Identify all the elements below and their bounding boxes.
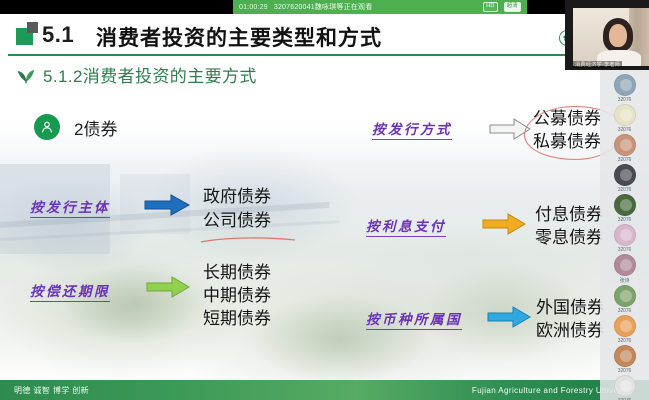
list-item[interactable]: 32076: [600, 345, 649, 374]
list-item[interactable]: 张诗: [600, 254, 649, 284]
white-arrow: [489, 118, 531, 140]
criterion-label-currency-country: 按币种所属国: [366, 308, 462, 330]
presentation-slide: 5.1 消费者投资的主要类型和方式 ✿ 福 5.1.2消费者投资的主要方式: [0, 14, 649, 400]
avatar[interactable]: [614, 224, 636, 246]
list-item[interactable]: 32076: [600, 164, 649, 193]
live-status-bar: 01:00:29 3207620041魏咏琪等正在观看 HD 超清: [233, 0, 527, 14]
topic-label: 2债券: [74, 115, 117, 140]
list-item[interactable]: 32076: [600, 375, 649, 400]
person-icon: [34, 114, 60, 140]
outcome-public-bond: 公募债券: [533, 108, 601, 130]
live-viewers-text: 3207620041魏咏琪等正在观看: [274, 2, 373, 12]
avatar[interactable]: [614, 345, 636, 367]
teacher-video-pip[interactable]: 消费经济学·李老师: [565, 0, 649, 70]
avatar[interactable]: [614, 285, 636, 307]
criterion-label-issuer: 按发行主体: [30, 196, 110, 218]
participant-name: 32076: [618, 217, 631, 223]
avatar[interactable]: [614, 375, 636, 397]
participant-name: 32076: [618, 127, 631, 133]
participant-name: 32076: [618, 338, 631, 344]
list-item[interactable]: 32076: [600, 74, 649, 103]
orange-arrow: [482, 213, 526, 235]
avatar[interactable]: [614, 134, 636, 156]
outcome-foreign-bond: 外国债券: [536, 297, 604, 319]
avatar[interactable]: [614, 74, 636, 96]
teacher-video-frame: [573, 8, 649, 66]
avatar[interactable]: [614, 254, 636, 276]
quality-badge[interactable]: 超清: [504, 2, 521, 13]
participant-name: 32076: [618, 157, 631, 163]
outcome-private-bond: 私募债券: [533, 131, 601, 153]
participant-name: 32076: [618, 308, 631, 314]
avatar[interactable]: [614, 194, 636, 216]
participant-name: 32076: [618, 97, 631, 103]
teacher-face: [609, 24, 627, 47]
outcome-short-term-bond: 短期债券: [203, 308, 271, 330]
list-item[interactable]: 32076: [600, 224, 649, 253]
outcome-long-term-bond: 长期债券: [203, 262, 271, 284]
avatar[interactable]: [614, 104, 636, 126]
live-elapsed-time: 01:00:29: [239, 4, 268, 11]
slide-footer: 明德 诚智 博学 创新 Fujian Agriculture and Fores…: [0, 380, 649, 400]
outcome-government-bond: 政府债券: [203, 186, 271, 208]
hd-badge[interactable]: HD: [483, 2, 497, 13]
criterion-label-maturity: 按偿还期限: [30, 280, 110, 302]
list-item[interactable]: 32076: [600, 285, 649, 314]
participant-name: 32076: [618, 368, 631, 374]
footer-motto: 明德 诚智 博学 创新: [14, 385, 89, 396]
list-item[interactable]: 32076: [600, 315, 649, 344]
participant-name: 32076: [618, 247, 631, 253]
avatar[interactable]: [614, 164, 636, 186]
avatar[interactable]: [614, 315, 636, 337]
participant-name: 张诗: [620, 277, 630, 284]
outcome-coupon-bond: 付息债券: [535, 204, 603, 226]
outcome-mid-term-bond: 中期债券: [203, 285, 271, 307]
outcome-zero-coupon-bond: 零息债券: [535, 227, 603, 249]
outcome-euro-bond: 欧洲债券: [536, 320, 604, 342]
cyan-arrow: [487, 306, 531, 328]
participants-rail[interactable]: 32076 32076 32076 32076 32076 32076 张诗: [600, 70, 649, 400]
list-item[interactable]: 32076: [600, 104, 649, 133]
red-annotation-underline: [200, 236, 296, 244]
green-arrow: [146, 276, 190, 298]
teacher-caption: 消费经济学·李老师: [573, 61, 622, 68]
live-class-screen: 01:00:29 3207620041魏咏琪等正在观看 HD 超清 5.1 消费…: [0, 0, 649, 400]
slide-content: 2债券 按发行方式 公募债券 私募债券 按发行主体 政府债券 公司债券 按利息支…: [0, 14, 649, 400]
criterion-label-issue-method: 按发行方式: [372, 118, 452, 140]
participant-name: 32076: [618, 187, 631, 193]
blue-arrow: [144, 194, 190, 216]
list-item[interactable]: 32076: [600, 134, 649, 163]
outcome-corporate-bond: 公司债券: [203, 210, 271, 232]
criterion-label-interest-payment: 按利息支付: [366, 215, 446, 237]
list-item[interactable]: 32076: [600, 194, 649, 223]
